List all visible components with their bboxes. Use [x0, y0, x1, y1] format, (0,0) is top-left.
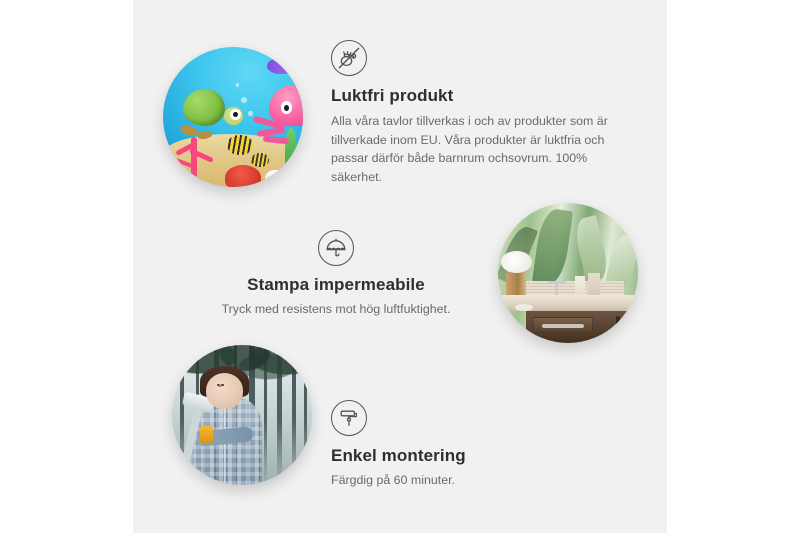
turtle-shell	[183, 89, 225, 126]
underwater-scene-art	[163, 47, 303, 187]
turtle-icon	[178, 85, 241, 135]
bathroom-vanity-tropical-wallpaper-photo	[498, 203, 638, 343]
feature-heading: Luktfri produkt	[331, 85, 627, 106]
eye	[221, 384, 224, 386]
vanity-cabinet	[526, 311, 638, 343]
cabinet-door-handle	[616, 316, 620, 335]
drawer-handle	[542, 324, 585, 328]
octopus-eye	[281, 101, 291, 114]
feature-body: Alla våra tavlor tillverkas i och av pro…	[331, 112, 627, 186]
feature-heading: Enkel montering	[331, 445, 621, 466]
striped-fish-icon	[227, 135, 252, 155]
umbrella-icon	[318, 230, 354, 266]
feature-block-waterproof: Stampa impermeabile Tryck med resistens …	[190, 230, 482, 319]
flower-bouquet	[501, 251, 532, 273]
bubble-icon	[241, 97, 247, 103]
smile	[218, 385, 222, 387]
shirt-placket	[224, 403, 226, 485]
no-odour-spray-bottle-icon	[331, 40, 367, 76]
octopus-icon	[255, 85, 303, 148]
turtle-head	[224, 107, 243, 125]
screenshot-root: Luktfri produkt Alla våra tavlor tillver…	[0, 0, 800, 533]
bubble-icon	[248, 111, 252, 115]
turtle-flipper	[179, 123, 198, 137]
feature-block-easy-install: Enkel montering Färgdig på 60 minuter.	[331, 400, 621, 490]
paint-roller-icon	[331, 400, 367, 436]
seashell-icon	[265, 170, 286, 185]
feature-heading: Stampa impermeabile	[190, 274, 482, 295]
feature-body: Tryck med resistens mot hög luftfuktighe…	[190, 300, 482, 319]
crab-icon	[225, 165, 261, 187]
soap-dish	[515, 304, 533, 311]
bathroom-scene-art	[498, 203, 638, 343]
feature-body: Färgdig på 60 minuter.	[331, 471, 621, 490]
roller-grip	[200, 426, 213, 444]
purple-fish-icon	[267, 58, 295, 73]
coral-icon	[171, 137, 219, 179]
woman-face	[206, 373, 244, 409]
feature-block-odourless: Luktfri produkt Alla våra tavlor tillver…	[331, 40, 627, 187]
octopus-tentacle	[256, 127, 285, 137]
forest-scene-art	[172, 345, 312, 485]
underwater-cartoon-mural-photo	[163, 47, 303, 187]
woman-paint-roller-forest-mural-photo	[172, 345, 312, 485]
octopus-tentacle	[263, 136, 289, 144]
